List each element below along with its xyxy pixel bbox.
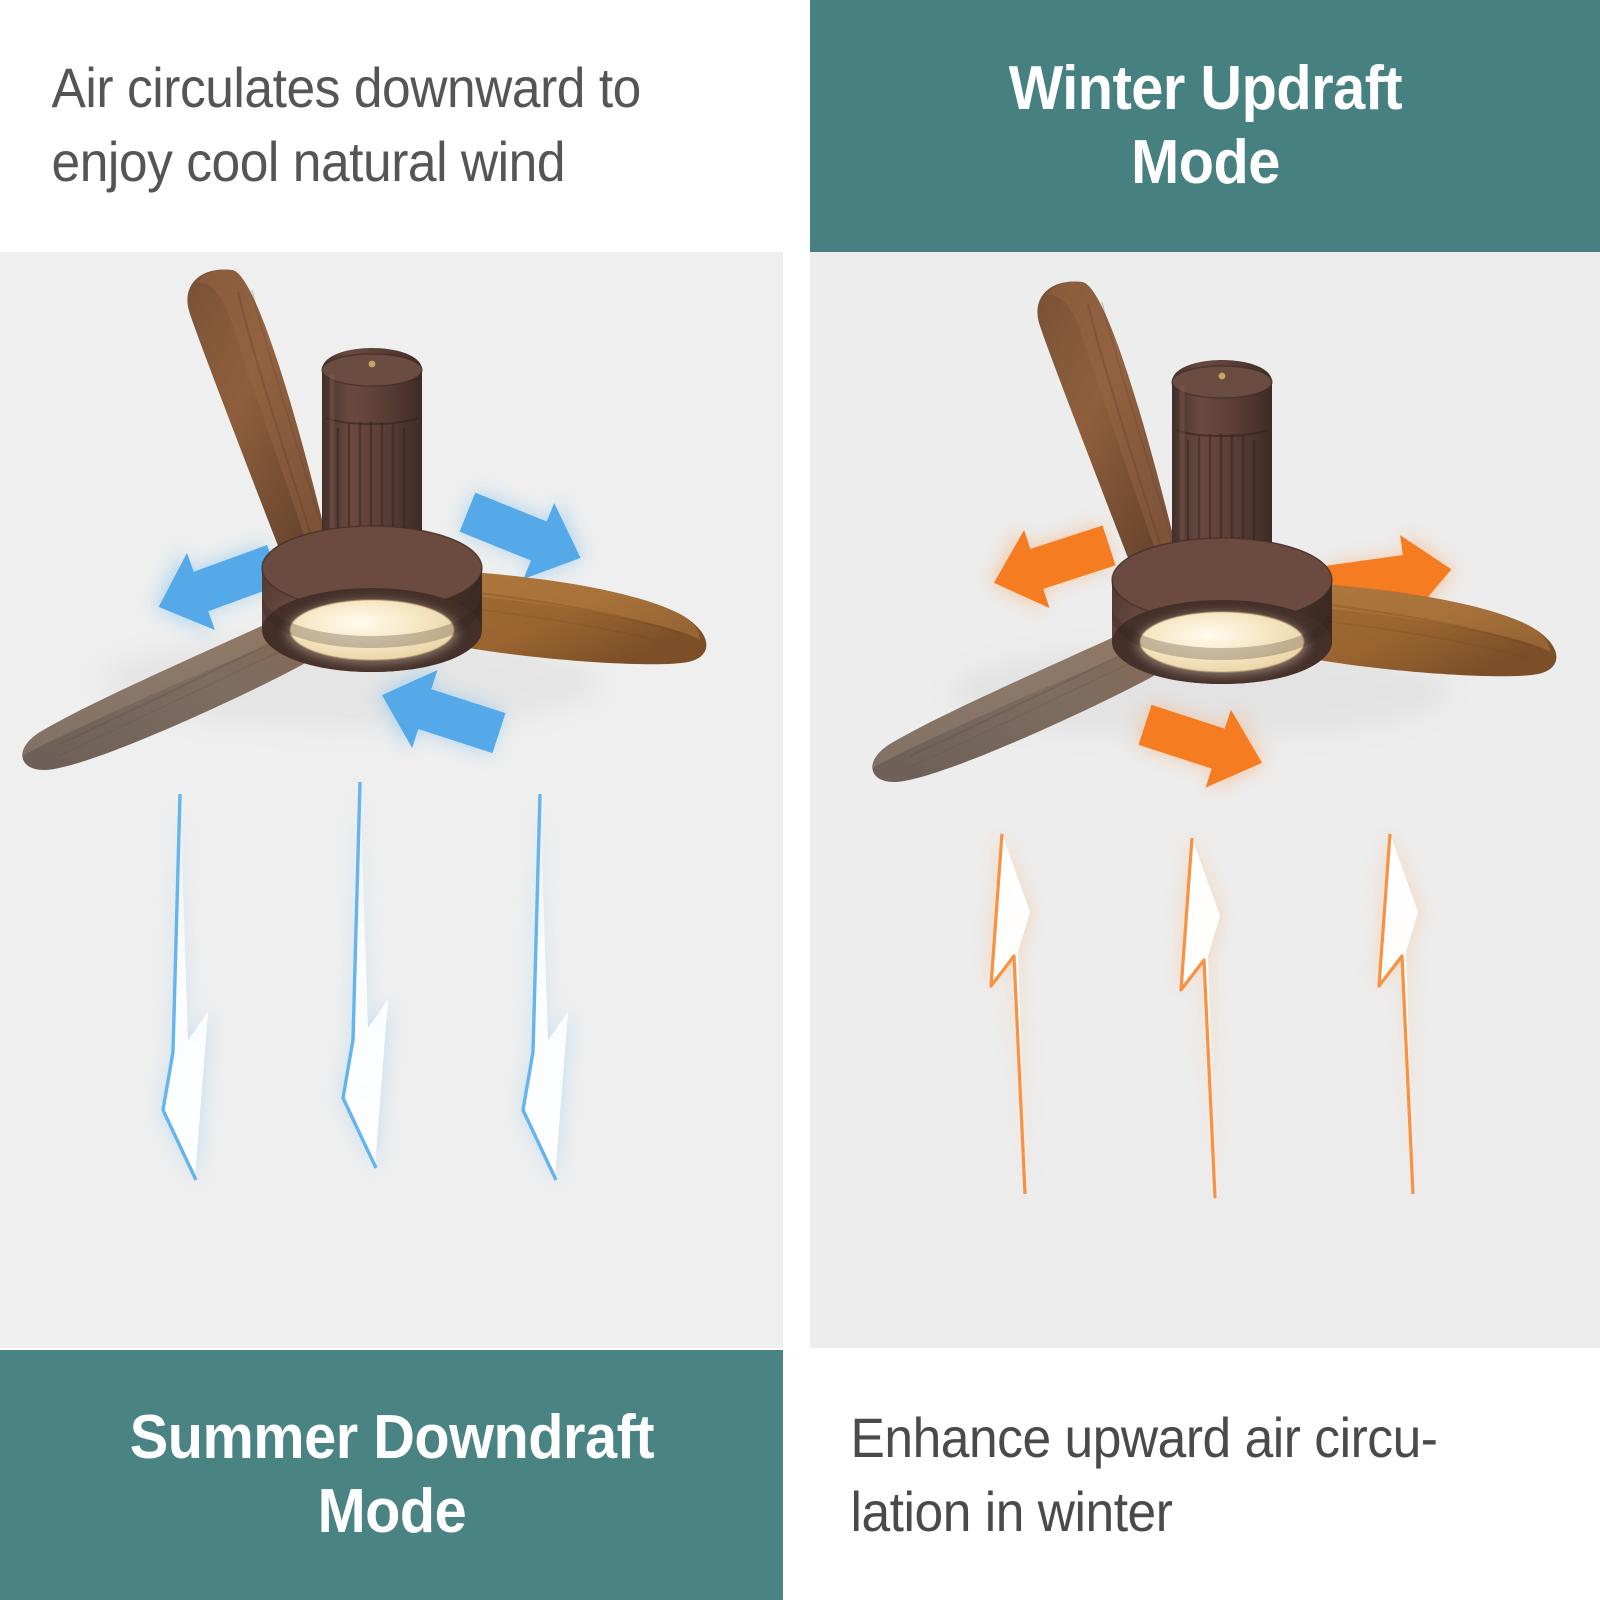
winter-caption-panel: Enhance upward air circu- lation in wint… xyxy=(810,1350,1600,1600)
summer-caption-panel: Air circulates downward to enjoy cool na… xyxy=(0,0,783,250)
summer-caption-line-2: enjoy cool natural wind xyxy=(52,125,641,199)
summer-caption-text: Air circulates downward to enjoy cool na… xyxy=(0,51,674,200)
winter-title-line-2: Mode xyxy=(1008,126,1401,200)
winter-caption-text: Enhance upward air circu- lation in wint… xyxy=(810,1401,1437,1550)
infographic-page: Air circulates downward to enjoy cool na… xyxy=(0,0,1600,1600)
summer-title-line-1: Summer Downdraft xyxy=(129,1401,653,1475)
summer-caption-line-1: Air circulates downward to xyxy=(52,51,641,125)
winter-caption-line-2: lation in winter xyxy=(850,1475,1437,1549)
summer-illustration-panel: Summer Downdraft Mode xyxy=(0,252,783,1348)
summer-fan-scene xyxy=(0,252,783,1348)
winter-caption-line-1: Enhance upward air circu- xyxy=(850,1401,1437,1475)
winter-title-text: Winter Updraft Mode xyxy=(1008,52,1401,201)
summer-fan-light-housing xyxy=(262,526,482,672)
winter-fan-scene xyxy=(810,252,1600,1348)
winter-title-panel: Winter Updraft Mode xyxy=(810,0,1600,252)
winter-illustration-panel: Winter Updraft Mode xyxy=(810,252,1600,1348)
winter-fan-light-housing xyxy=(1112,538,1332,684)
summer-title-text: Summer Downdraft Mode xyxy=(129,1401,653,1550)
summer-title-panel: Summer Downdraft Mode xyxy=(0,1350,783,1600)
winter-title-line-1: Winter Updraft xyxy=(1008,52,1401,126)
summer-title-line-2: Mode xyxy=(129,1475,653,1549)
